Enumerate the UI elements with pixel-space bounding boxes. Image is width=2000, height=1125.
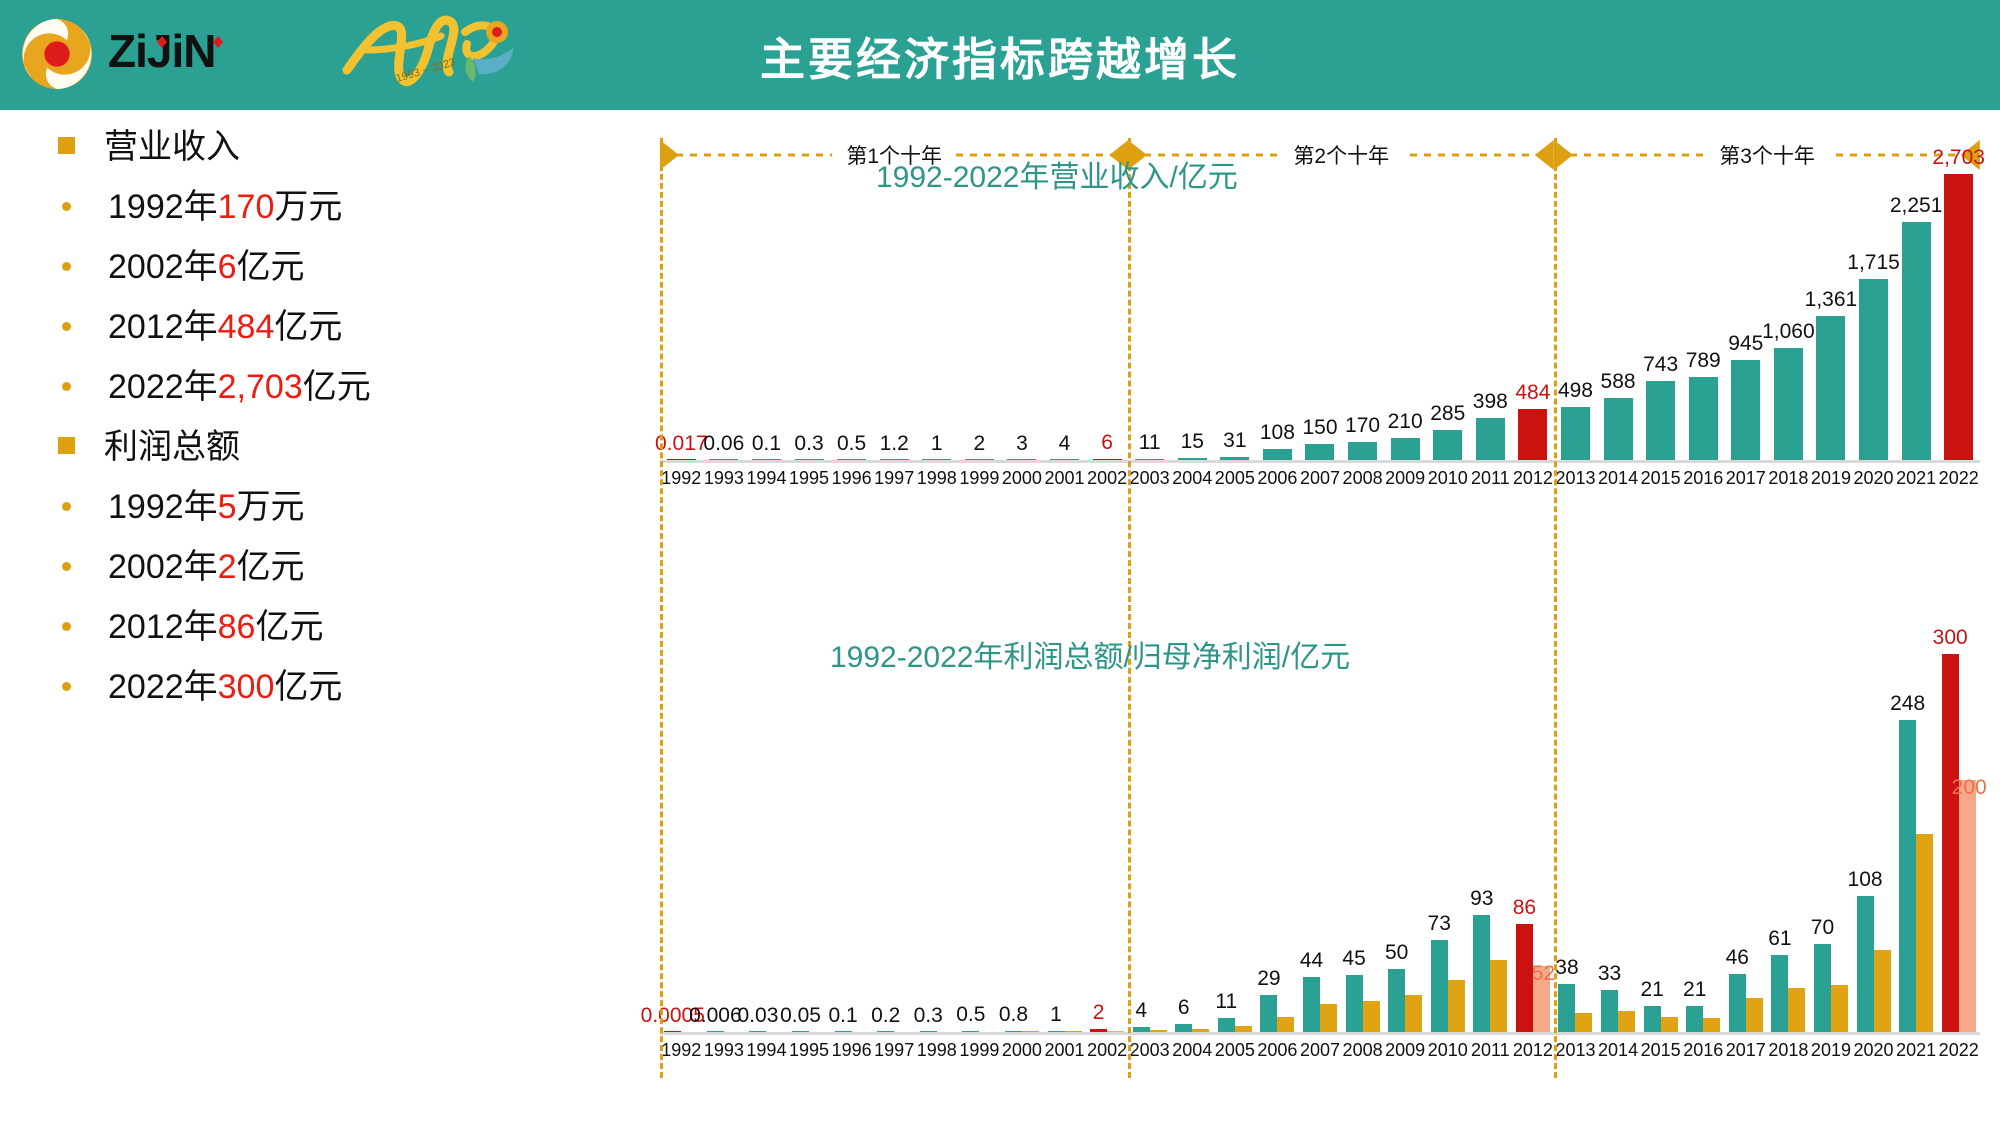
bar — [1320, 1004, 1337, 1032]
bar-value-label: 2 — [1093, 1001, 1105, 1025]
dot-bullet-icon — [62, 562, 71, 571]
revenue-chart: 1992-2022年营业收入/亿元 0.01719920.0619930.119… — [660, 170, 1980, 500]
bar — [1150, 1030, 1167, 1032]
x-axis-tick-label: 2022 — [1939, 1040, 1979, 1061]
key-figure-value: 300 — [218, 668, 275, 706]
bar-value-label: 0.06 — [703, 432, 744, 456]
key-figure-item: 1992年5万元 — [58, 490, 478, 537]
bar-group — [788, 174, 831, 460]
bar — [1065, 1031, 1082, 1032]
x-axis-tick-label: 1999 — [959, 1040, 999, 1061]
key-figure-text: 2002年2亿元 — [108, 550, 305, 584]
bar-group — [1341, 654, 1384, 1032]
bar-value-label: 1,715 — [1847, 251, 1900, 275]
bar — [1391, 438, 1420, 460]
x-axis-tick-label: 2001 — [1044, 1040, 1084, 1061]
bar-value-label: 150 — [1302, 416, 1337, 440]
bar-value-label: 0.5 — [837, 432, 866, 456]
bar-value-label: 789 — [1686, 349, 1721, 373]
bar-group — [660, 654, 703, 1032]
bar — [1178, 458, 1207, 460]
bar — [1788, 988, 1805, 1032]
bar-value-label: 44 — [1300, 949, 1323, 973]
bar — [920, 1031, 937, 1032]
bar-group — [1725, 654, 1768, 1032]
bar — [1363, 1001, 1380, 1033]
bar — [922, 459, 951, 460]
bar-group — [1043, 654, 1086, 1032]
bar — [1686, 1006, 1703, 1032]
x-axis-tick-label: 1994 — [746, 1040, 786, 1061]
bar-group — [1682, 174, 1725, 460]
bar-value-label: 21 — [1640, 978, 1663, 1002]
bar — [1405, 995, 1422, 1032]
bar — [1050, 459, 1079, 460]
bar-value-label: 33 — [1598, 962, 1621, 986]
x-axis-tick-label: 2010 — [1428, 1040, 1468, 1061]
bar — [1175, 1024, 1192, 1032]
bar-group — [1682, 654, 1725, 1032]
x-axis-tick-label: 1995 — [789, 1040, 829, 1061]
bar-value-label: 300 — [1933, 626, 1968, 650]
bar — [1771, 955, 1788, 1032]
bar — [1346, 975, 1363, 1032]
key-figure-suffix: 万元 — [237, 488, 305, 526]
bar-group — [1554, 174, 1597, 460]
key-figure-item: 2022年2,703亿元 — [58, 370, 478, 417]
bar-group — [1469, 174, 1512, 460]
x-axis-tick-label: 1992 — [661, 468, 701, 489]
bar-value-label: 0.05 — [780, 1004, 821, 1028]
bar — [1135, 459, 1164, 460]
bar-group — [1767, 174, 1810, 460]
key-figure-prefix: 利润总额 — [104, 428, 240, 466]
key-figure-text: 1992年170万元 — [108, 190, 342, 224]
x-axis-tick-label: 2011 — [1471, 468, 1510, 489]
key-figure-value: 5 — [218, 488, 237, 526]
decade-divider-line — [1554, 138, 1557, 1078]
bar — [1107, 1031, 1124, 1032]
bar-value-label: 200 — [1952, 776, 1987, 800]
bar-value-label: 108 — [1260, 421, 1295, 445]
square-bullet-icon — [58, 437, 75, 454]
bar-value-label: 2,251 — [1890, 194, 1943, 218]
bar-group — [1001, 654, 1044, 1032]
bar — [1814, 944, 1831, 1032]
bar-value-label: 588 — [1601, 370, 1636, 394]
decade-label: 第2个十年 — [1279, 140, 1403, 170]
bar — [1942, 654, 1959, 1032]
key-figure-suffix: 万元 — [274, 188, 342, 226]
bar-group — [915, 654, 958, 1032]
bar — [709, 459, 738, 460]
bar-group — [660, 174, 703, 460]
key-figure-suffix: 亿元 — [274, 308, 342, 346]
bar-group — [958, 654, 1001, 1032]
bar-value-label: 0.2 — [871, 1004, 900, 1028]
bar — [1944, 174, 1973, 460]
bar-value-label: 11 — [1215, 990, 1237, 1014]
profit-chart: 1992-2022年利润总额/归母净利润/亿元 0.000519920.0061… — [660, 650, 1980, 1070]
bar-group — [958, 174, 1001, 460]
bar-group — [1128, 654, 1171, 1032]
x-axis-tick-label: 2020 — [1854, 468, 1894, 489]
bar — [962, 1031, 979, 1032]
x-axis-tick-label: 2019 — [1811, 1040, 1851, 1061]
bar — [1558, 984, 1575, 1032]
bar — [667, 459, 696, 460]
bar-value-label: 0.3 — [914, 1004, 943, 1028]
x-axis-line — [660, 1032, 1980, 1035]
decade-marker: 第3个十年 — [1554, 138, 1980, 172]
x-axis-tick-label: 2014 — [1598, 468, 1638, 489]
revenue-chart-title: 1992-2022年营业收入/亿元 — [876, 152, 1238, 196]
bar-group — [1171, 654, 1214, 1032]
decade-divider-line — [1128, 138, 1131, 1078]
x-axis-tick-label: 2018 — [1768, 1040, 1808, 1061]
key-figure-suffix: 亿元 — [237, 548, 305, 586]
bar-value-label: 0.5 — [956, 1003, 985, 1027]
bar — [1831, 985, 1848, 1032]
bar — [749, 1031, 766, 1032]
bar — [1646, 381, 1675, 460]
key-figure-value: 6 — [218, 248, 237, 286]
x-axis-tick-label: 2014 — [1598, 1040, 1638, 1061]
bar — [1746, 998, 1763, 1032]
dot-bullet-icon — [62, 382, 71, 391]
bar — [707, 1031, 724, 1032]
x-axis-tick-label: 2015 — [1641, 1040, 1681, 1061]
x-axis-tick-label: 2017 — [1726, 468, 1766, 489]
bar-group — [1299, 654, 1342, 1032]
bar-value-label: 1 — [931, 432, 943, 456]
bar — [1902, 222, 1931, 460]
x-axis-line — [660, 460, 1980, 463]
bar — [1388, 969, 1405, 1032]
bar — [1090, 1029, 1107, 1032]
x-axis-tick-label: 2020 — [1854, 1040, 1894, 1061]
bar — [1192, 1029, 1209, 1032]
bar-group — [1810, 654, 1853, 1032]
x-axis-tick-label: 2003 — [1130, 468, 1170, 489]
x-axis-tick-label: 2003 — [1130, 1040, 1170, 1061]
bar-value-label: 52 — [1532, 962, 1555, 986]
bar-group — [1937, 654, 1980, 1032]
key-figure-prefix: 2002年 — [108, 548, 218, 586]
bar — [835, 1031, 852, 1032]
bar — [664, 1031, 681, 1032]
bar — [1729, 974, 1746, 1032]
bar-value-label: 0.1 — [829, 1004, 858, 1028]
bar — [877, 1031, 894, 1032]
bar-group — [830, 174, 873, 460]
decade-label: 第3个十年 — [1705, 140, 1829, 170]
x-axis-tick-label: 2021 — [1896, 468, 1936, 489]
bar — [1874, 950, 1891, 1032]
bar-group — [1001, 174, 1044, 460]
bar-value-label: 1.2 — [880, 432, 909, 456]
bar-group — [1512, 174, 1555, 460]
bar — [1899, 720, 1916, 1032]
key-figure-suffix: 亿元 — [274, 668, 342, 706]
key-figure-prefix: 2012年 — [108, 308, 218, 346]
x-axis-tick-label: 2013 — [1555, 1040, 1595, 1061]
bar-group — [1725, 174, 1768, 460]
dot-bullet-icon — [62, 502, 71, 511]
bar-value-label: 0.006 — [689, 1004, 742, 1028]
bar-value-label: 0.1 — [752, 432, 781, 456]
bar-value-label: 11 — [1139, 431, 1161, 455]
bar-value-label: 29 — [1257, 967, 1280, 991]
bar-value-label: 21 — [1683, 978, 1706, 1002]
decade-band: 第1个十年第2个十年第3个十年 — [660, 138, 1980, 172]
bar — [1022, 1031, 1039, 1032]
bar-value-label: 210 — [1388, 410, 1423, 434]
bar-group — [873, 654, 916, 1032]
bar — [1305, 444, 1334, 460]
x-axis-tick-label: 2015 — [1641, 468, 1681, 489]
page-header: ZiJiN 1993 ~ 2023 主要经济指标跨越增长 — [0, 0, 2000, 110]
bar — [1774, 348, 1803, 460]
bar-group — [1214, 174, 1257, 460]
bar-value-label: 0.8 — [999, 1003, 1028, 1027]
bar — [1093, 459, 1122, 460]
key-figure-item: 2012年86亿元 — [58, 610, 478, 657]
bar-group — [788, 654, 831, 1032]
bar-group — [1384, 654, 1427, 1032]
x-axis-tick-label: 2006 — [1257, 468, 1297, 489]
bar — [1916, 834, 1933, 1032]
x-axis-tick-label: 1998 — [917, 1040, 957, 1061]
bar-group — [830, 654, 873, 1032]
bar-group — [1852, 174, 1895, 460]
dot-bullet-icon — [62, 682, 71, 691]
x-axis-tick-label: 2007 — [1300, 468, 1340, 489]
bar-value-label: 38 — [1555, 956, 1578, 980]
bar-group — [1852, 654, 1895, 1032]
bar-group — [1214, 654, 1257, 1032]
bar — [1644, 1006, 1661, 1032]
x-axis-tick-label: 2013 — [1555, 468, 1595, 489]
x-axis-tick-label: 2008 — [1343, 1040, 1383, 1061]
key-figure-prefix: 2012年 — [108, 608, 218, 646]
dot-bullet-icon — [62, 322, 71, 331]
bar-value-label: 108 — [1848, 868, 1883, 892]
bar-group — [1171, 174, 1214, 460]
bar — [1007, 459, 1036, 460]
bar-value-label: 484 — [1515, 381, 1550, 405]
bar-value-label: 86 — [1513, 896, 1536, 920]
square-bullet-icon — [58, 137, 75, 154]
bar — [1433, 430, 1462, 460]
bar-group — [1043, 174, 1086, 460]
bar-group — [703, 174, 746, 460]
key-figure-item: 营业收入 — [58, 130, 478, 177]
bar-value-label: 2,703 — [1932, 146, 1985, 170]
x-axis-tick-label: 2009 — [1385, 1040, 1425, 1061]
key-figure-prefix: 2002年 — [108, 248, 218, 286]
key-figures-list: 营业收入1992年170万元2002年6亿元2012年484亿元2022年2,7… — [58, 130, 478, 730]
x-axis-tick-label: 2021 — [1896, 1040, 1936, 1061]
key-figure-suffix: 亿元 — [255, 608, 323, 646]
bar — [1348, 442, 1377, 460]
x-axis-tick-label: 1996 — [832, 468, 872, 489]
x-axis-tick-label: 2012 — [1513, 468, 1553, 489]
bar — [837, 459, 866, 460]
bar-group — [1639, 654, 1682, 1032]
dot-bullet-icon — [62, 202, 71, 211]
bar-value-label: 285 — [1430, 402, 1465, 426]
x-axis-tick-label: 2017 — [1726, 1040, 1766, 1061]
bar-group — [1469, 654, 1512, 1032]
bar — [1448, 980, 1465, 1032]
key-figure-text: 2022年300亿元 — [108, 670, 342, 704]
bar — [1575, 1013, 1592, 1032]
x-axis-tick-label: 1998 — [917, 468, 957, 489]
key-figure-item: 2002年2亿元 — [58, 550, 478, 597]
bar-value-label: 93 — [1470, 887, 1493, 911]
bar — [1661, 1017, 1678, 1032]
bar-value-label: 31 — [1223, 429, 1246, 453]
x-axis-tick-label: 2008 — [1343, 468, 1383, 489]
bar-value-label: 15 — [1181, 430, 1204, 454]
bar-value-label: 45 — [1342, 947, 1365, 971]
x-axis-tick-label: 2000 — [1002, 1040, 1042, 1061]
bar-value-label: 4 — [1059, 432, 1071, 456]
bar-group — [745, 654, 788, 1032]
x-axis-tick-label: 2002 — [1087, 468, 1127, 489]
x-axis-tick-label: 1995 — [789, 468, 829, 489]
x-axis-tick-label: 2011 — [1471, 1040, 1510, 1061]
key-figure-value: 170 — [218, 188, 275, 226]
key-figure-prefix: 1992年 — [108, 188, 218, 226]
bar — [1476, 418, 1505, 460]
x-axis-tick-label: 2010 — [1428, 468, 1468, 489]
bar — [1859, 279, 1888, 460]
key-figure-text: 2022年2,703亿元 — [108, 370, 371, 404]
bar-value-label: 1,060 — [1762, 320, 1815, 344]
dot-bullet-icon — [62, 262, 71, 271]
bar-value-label: 945 — [1728, 332, 1763, 356]
x-axis-tick-label: 2012 — [1513, 1040, 1553, 1061]
x-axis-tick-label: 2004 — [1172, 1040, 1212, 1061]
bar-value-label: 3 — [1016, 432, 1028, 456]
bar — [1431, 940, 1448, 1032]
bar — [1816, 316, 1845, 460]
x-axis-tick-label: 2004 — [1172, 468, 1212, 489]
bar-value-label: 0.03 — [738, 1004, 779, 1028]
page-title: 主要经济指标跨越增长 — [0, 0, 2000, 110]
bar-value-label: 248 — [1890, 692, 1925, 716]
key-figure-item: 利润总额 — [58, 430, 478, 477]
bar — [752, 459, 781, 460]
profit-chart-title: 1992-2022年利润总额/归母净利润/亿元 — [830, 632, 1350, 676]
bar-group — [1426, 654, 1469, 1032]
bar-group — [1767, 654, 1810, 1032]
bar — [1731, 360, 1760, 460]
bar — [1857, 896, 1874, 1032]
x-axis-tick-label: 1997 — [874, 1040, 914, 1061]
x-axis-tick-label: 2016 — [1683, 1040, 1723, 1061]
bar — [1516, 924, 1533, 1032]
bar-group — [745, 174, 788, 460]
bar — [1277, 1017, 1294, 1032]
x-axis-tick-label: 2019 — [1811, 468, 1851, 489]
bar-group — [1128, 174, 1171, 460]
key-figure-text: 利润总额 — [104, 430, 240, 464]
x-axis-tick-label: 1999 — [959, 468, 999, 489]
x-axis-tick-label: 2005 — [1215, 1040, 1255, 1061]
bar-value-label: 6 — [1101, 431, 1113, 455]
bar — [1263, 449, 1292, 460]
bar — [1518, 409, 1547, 460]
x-axis-tick-label: 2005 — [1215, 468, 1255, 489]
bar — [1604, 398, 1633, 460]
bar-group — [873, 174, 916, 460]
x-axis-tick-label: 1994 — [746, 468, 786, 489]
bar — [1220, 457, 1249, 460]
x-axis-tick-label: 2001 — [1044, 468, 1084, 489]
key-figure-prefix: 1992年 — [108, 488, 218, 526]
bar-group — [1937, 174, 1980, 460]
key-figure-item: 2012年484亿元 — [58, 310, 478, 357]
bar-group — [1810, 174, 1853, 460]
key-figure-value: 2,703 — [218, 368, 303, 406]
x-axis-tick-label: 2009 — [1385, 468, 1425, 489]
key-figure-prefix: 2022年 — [108, 368, 218, 406]
x-axis-tick-label: 1997 — [874, 468, 914, 489]
decade-divider-line — [660, 138, 663, 1078]
bar-group — [1086, 654, 1129, 1032]
key-figure-suffix: 亿元 — [237, 248, 305, 286]
bar-value-label: 170 — [1345, 414, 1380, 438]
bar-group — [915, 174, 958, 460]
bar-value-label: 1,361 — [1805, 288, 1858, 312]
bar — [1048, 1031, 1065, 1032]
bar — [792, 1031, 809, 1032]
key-figure-value: 86 — [218, 608, 256, 646]
key-figure-prefix: 营业收入 — [104, 128, 240, 166]
bar-group — [1256, 174, 1299, 460]
bar — [1959, 780, 1976, 1032]
key-figure-suffix: 亿元 — [303, 368, 371, 406]
key-figure-item: 2022年300亿元 — [58, 670, 478, 717]
x-axis-tick-label: 2002 — [1087, 1040, 1127, 1061]
bar-group — [1639, 174, 1682, 460]
x-axis-tick-label: 1992 — [661, 1040, 701, 1061]
x-axis-tick-label: 1993 — [704, 1040, 744, 1061]
bar-group — [1597, 174, 1640, 460]
bar-value-label: 46 — [1726, 946, 1749, 970]
x-axis-tick-label: 2000 — [1002, 468, 1042, 489]
key-figure-text: 2012年86亿元 — [108, 610, 323, 644]
x-axis-tick-label: 2006 — [1257, 1040, 1297, 1061]
bar-value-label: 6 — [1178, 996, 1190, 1020]
bar-value-label: 1 — [1050, 1003, 1062, 1027]
bar — [1561, 407, 1590, 460]
key-figure-text: 营业收入 — [104, 130, 240, 164]
x-axis-tick-label: 2016 — [1683, 468, 1723, 489]
key-figure-text: 2002年6亿元 — [108, 250, 305, 284]
bar-value-label: 743 — [1643, 353, 1678, 377]
bar — [1689, 377, 1718, 460]
key-figure-value: 484 — [218, 308, 275, 346]
key-figure-text: 1992年5万元 — [108, 490, 305, 524]
dot-bullet-icon — [62, 622, 71, 631]
bar — [1490, 960, 1507, 1032]
bar — [1260, 995, 1277, 1032]
key-figure-text: 2012年484亿元 — [108, 310, 342, 344]
